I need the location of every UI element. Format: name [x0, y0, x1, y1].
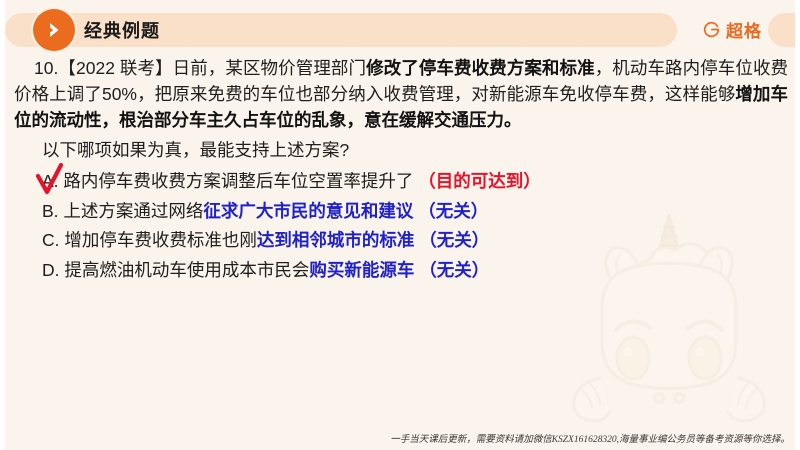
option-b[interactable]: B. 上述方案通过网络征求广大市民的意见和建议 （无关） — [42, 197, 800, 227]
passage-paragraph: 10.【2022 联考】日前，某区物价管理部门修改了停车费收费方案和标准，机动车… — [0, 55, 800, 133]
left-edge-margin — [0, 0, 5, 450]
brand: 超格 — [703, 17, 762, 42]
question-prompt: 以下哪项如果为真，最能支持上述方案? — [0, 137, 800, 164]
superge-logo-icon — [703, 21, 720, 38]
option-a-tag: （目的可达到） — [418, 171, 541, 191]
option-b-text: 上述方案通过网络 — [63, 201, 203, 221]
option-d-highlight: 购买新能源车 — [309, 260, 414, 280]
option-a-text: 路内停车费收费方案调整后车位空置率提升了 — [63, 171, 413, 191]
option-b-letter: B. — [42, 197, 59, 227]
slide-content: 10.【2022 联考】日前，某区物价管理部门修改了停车费收费方案和标准，机动车… — [0, 55, 800, 285]
brand-name: 超格 — [726, 17, 762, 42]
passage-number: 10. — [34, 58, 58, 78]
option-b-highlight: 征求广大市民的意见和建议 — [203, 201, 413, 221]
option-d-letter: D. — [42, 256, 60, 286]
option-c-highlight: 达到相邻城市的标准 — [257, 230, 415, 250]
option-c-letter: C. — [42, 226, 60, 256]
slide-canvas: 经典例题 超格 10.【2022 联考】日前，某区物价管理部门修改了停车费收费方… — [0, 0, 800, 450]
option-d[interactable]: D. 提高燃油机动车使用成本市民会购买新能源车 （无关） — [42, 256, 800, 286]
options-list: A. 路内停车费收费方案调整后车位空置率提升了 （目的可达到） B. 上述方案通… — [0, 167, 800, 285]
footer-note: 一手当天课后更新，需要资料请加微信KSZX161628320,海量事业编公务员等… — [0, 433, 800, 447]
option-d-tag: （无关） — [419, 260, 489, 280]
chevron-right-icon — [33, 9, 75, 51]
passage-source: 【2022 联考】 — [58, 58, 172, 78]
option-a-letter: A. — [42, 167, 59, 197]
right-edge-margin — [795, 0, 800, 450]
option-a[interactable]: A. 路内停车费收费方案调整后车位空置率提升了 （目的可达到） — [42, 167, 800, 197]
passage-text-a: 日前，某区物价管理部门 — [173, 58, 366, 78]
option-c-tag: （无关） — [419, 230, 489, 250]
option-c[interactable]: C. 增加停车费收费标准也刚达到相邻城市的标准 （无关） — [42, 226, 800, 256]
option-b-tag: （无关） — [418, 201, 488, 221]
passage-bold-1: 修改了停车费收费方案和标准 — [366, 58, 595, 78]
option-c-text: 增加停车费收费标准也刚 — [64, 230, 257, 250]
page-title: 经典例题 — [84, 17, 160, 43]
option-d-text: 提高燃油机动车使用成本市民会 — [64, 260, 309, 280]
